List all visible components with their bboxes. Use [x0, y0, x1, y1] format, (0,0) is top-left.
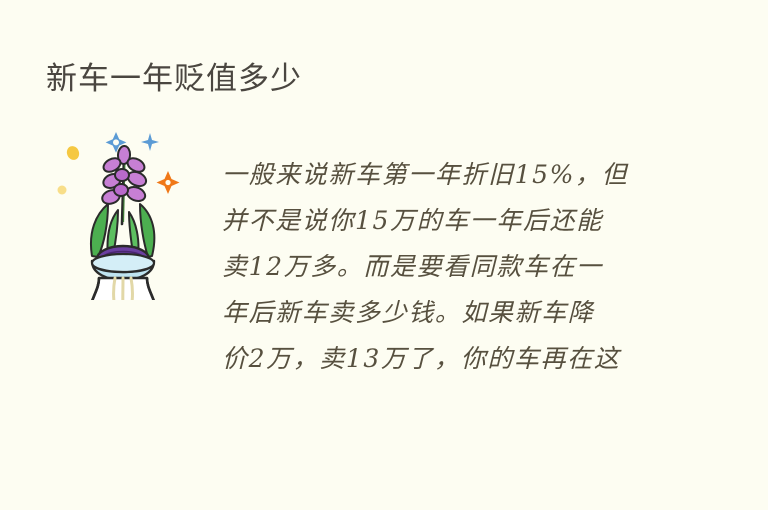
- sparkle-yellow-lower-left: [58, 186, 67, 195]
- hyacinth-illustration: [52, 128, 204, 300]
- article-card: 新车一年贬值多少: [0, 0, 768, 510]
- sparkle-blue-plus-top-right: [141, 133, 159, 151]
- jar-neck: [92, 254, 154, 280]
- body-line: 一般来说新车第一年折旧15%，但: [222, 152, 658, 198]
- body-line: 并不是说你15万的车一年后还能: [222, 198, 658, 244]
- body-line: 卖12万多。而是要看同款车在一: [222, 244, 658, 290]
- page-title: 新车一年贬值多少: [46, 58, 302, 100]
- sparkle-yellow-upper-left: [65, 144, 81, 161]
- sparkle-orange-star-right: [157, 171, 180, 194]
- body-line: 年后新车卖多少钱。如果新车降: [222, 290, 658, 336]
- article-body: 一般来说新车第一年折旧15%，但 并不是说你15万的车一年后还能 卖12万多。而…: [222, 152, 658, 382]
- body-line: 价2万，卖13万了，你的车再在这: [222, 336, 658, 382]
